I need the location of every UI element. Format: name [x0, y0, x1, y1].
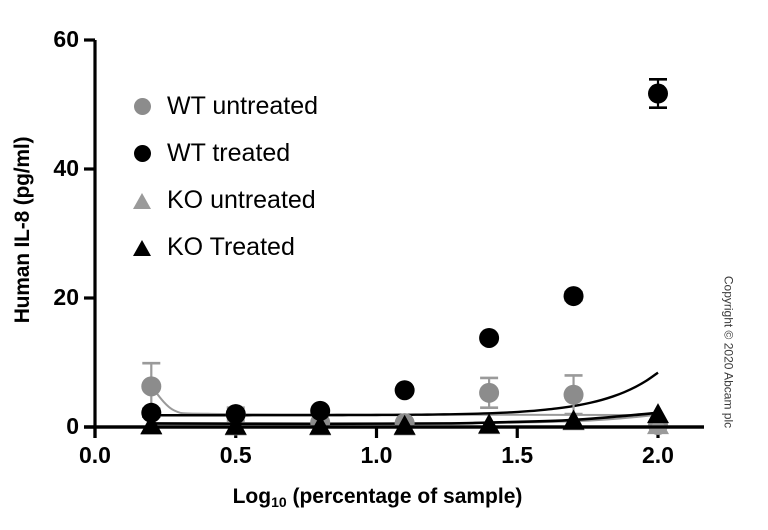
copyright-notice: Copyright © 2020 Abcam plc — [722, 260, 736, 445]
y-axis-title: Human IL-8 (pg/ml) — [11, 65, 35, 395]
legend-item[interactable]: KO Treated — [128, 224, 318, 271]
x-axis-title-rest: (percentage of sample) — [287, 485, 523, 508]
x-tick-label: 1.5 — [477, 444, 557, 467]
wt-treated-marker — [648, 84, 668, 104]
wt-untreated-marker — [141, 376, 161, 396]
legend-marker-glyph — [133, 240, 151, 256]
legend-marker-glyph — [134, 145, 151, 162]
x-tick-label: 0.0 — [55, 444, 135, 467]
y-tick-label: 20 — [25, 286, 79, 309]
wt-treated-marker — [141, 403, 161, 423]
y-tick-label: 60 — [25, 28, 79, 51]
wt-untreated-marker — [564, 385, 584, 405]
x-tick-label: 0.5 — [196, 444, 276, 467]
legend-item-label: WT untreated — [167, 94, 318, 119]
wt-treated-marker — [564, 286, 584, 306]
wt-treated-marker — [395, 380, 415, 400]
circle-marker-icon — [128, 140, 156, 168]
wt-untreated-marker — [479, 383, 499, 403]
wt-treated-marker — [310, 401, 330, 421]
chart-legend: WT untreatedWT treatedKO untreatedKO Tre… — [128, 83, 318, 271]
triangle-marker-icon — [128, 187, 156, 215]
x-axis-title: Log10 (percentage of sample) — [95, 485, 660, 509]
circle-marker-icon — [128, 93, 156, 121]
x-axis-title-base: Log — [233, 485, 271, 508]
legend-item[interactable]: KO untreated — [128, 177, 318, 224]
legend-item-label: KO untreated — [167, 188, 316, 213]
x-axis-title-subscript: 10 — [271, 494, 287, 510]
y-tick-label: 0 — [25, 415, 79, 438]
legend-marker-glyph — [133, 193, 151, 209]
legend-item[interactable]: WT treated — [128, 130, 318, 177]
x-tick-label: 1.0 — [337, 444, 417, 467]
wt-treated-marker — [479, 328, 499, 348]
y-tick-label: 40 — [25, 157, 79, 180]
legend-item-label: KO Treated — [167, 235, 295, 260]
legend-marker-glyph — [134, 98, 151, 115]
triangle-marker-icon — [128, 234, 156, 262]
x-tick-label: 2.0 — [618, 444, 698, 467]
legend-item-label: WT treated — [167, 141, 290, 166]
chart-figure: Human IL-8 (pg/ml) Log10 (percentage of … — [0, 0, 768, 530]
wt-treated-marker — [226, 404, 246, 424]
legend-item[interactable]: WT untreated — [128, 83, 318, 130]
